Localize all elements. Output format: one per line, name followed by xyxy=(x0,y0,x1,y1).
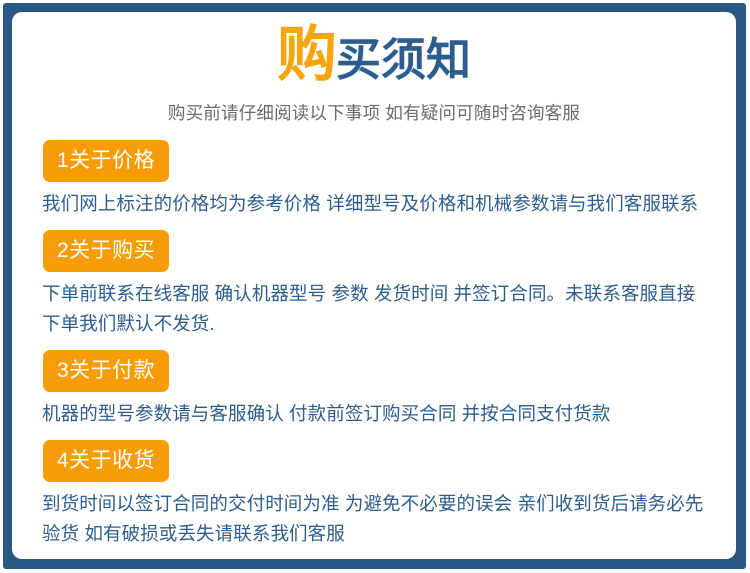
page-subtitle: 购买前请仔细阅读以下事项 如有疑问可随时咨询客服 xyxy=(12,103,736,124)
page-title: 购买须知 xyxy=(12,25,736,85)
section-body-buying: 下单前联系在线客服 确认机器型号 参数 发货时间 并签订合同。未联系客服直接下单… xyxy=(42,279,706,339)
notice-section-receipt: 4关于收货 到货时间以签订合同的交付时间为准 为避免不必要的误会 亲们收到货后请… xyxy=(12,440,736,549)
section-body-receipt: 到货时间以签订合同的交付时间为准 为避免不必要的误会 亲们收到货后请务必先验货 … xyxy=(42,489,706,549)
notice-header: 购买须知 购买前请仔细阅读以下事项 如有疑问可随时咨询客服 xyxy=(12,12,736,124)
section-body-payment: 机器的型号参数请与客服确认 付款前签订购买合同 并按合同支付货款 xyxy=(42,399,706,429)
notice-border-frame: 购买须知 购买前请仔细阅读以下事项 如有疑问可随时咨询客服 1关于价格 我们网上… xyxy=(3,3,746,569)
section-badge-receipt: 4关于收货 xyxy=(43,440,169,482)
notice-section-list: 1关于价格 我们网上标注的价格均为参考价格 详细型号及价格和机械参数请与我们客服… xyxy=(12,124,736,549)
page-title-hero-char: 购 xyxy=(277,21,336,88)
notice-section-buying: 2关于购买 下单前联系在线客服 确认机器型号 参数 发货时间 并签订合同。未联系… xyxy=(12,230,736,339)
section-badge-price: 1关于价格 xyxy=(43,140,169,182)
section-body-price: 我们网上标注的价格均为参考价格 详细型号及价格和机械参数请与我们客服联系 xyxy=(42,189,706,219)
notice-section-price: 1关于价格 我们网上标注的价格均为参考价格 详细型号及价格和机械参数请与我们客服… xyxy=(12,140,736,219)
notice-section-payment: 3关于付款 机器的型号参数请与客服确认 付款前签订购买合同 并按合同支付货款 xyxy=(12,350,736,429)
section-badge-buying: 2关于购买 xyxy=(43,230,169,272)
purchase-notice-card: 购买须知 购买前请仔细阅读以下事项 如有疑问可随时咨询客服 1关于价格 我们网上… xyxy=(0,0,750,573)
section-badge-payment: 3关于付款 xyxy=(43,350,169,392)
page-title-rest: 买须知 xyxy=(336,34,471,85)
notice-content-area: 购买须知 购买前请仔细阅读以下事项 如有疑问可随时咨询客服 1关于价格 我们网上… xyxy=(12,12,736,559)
